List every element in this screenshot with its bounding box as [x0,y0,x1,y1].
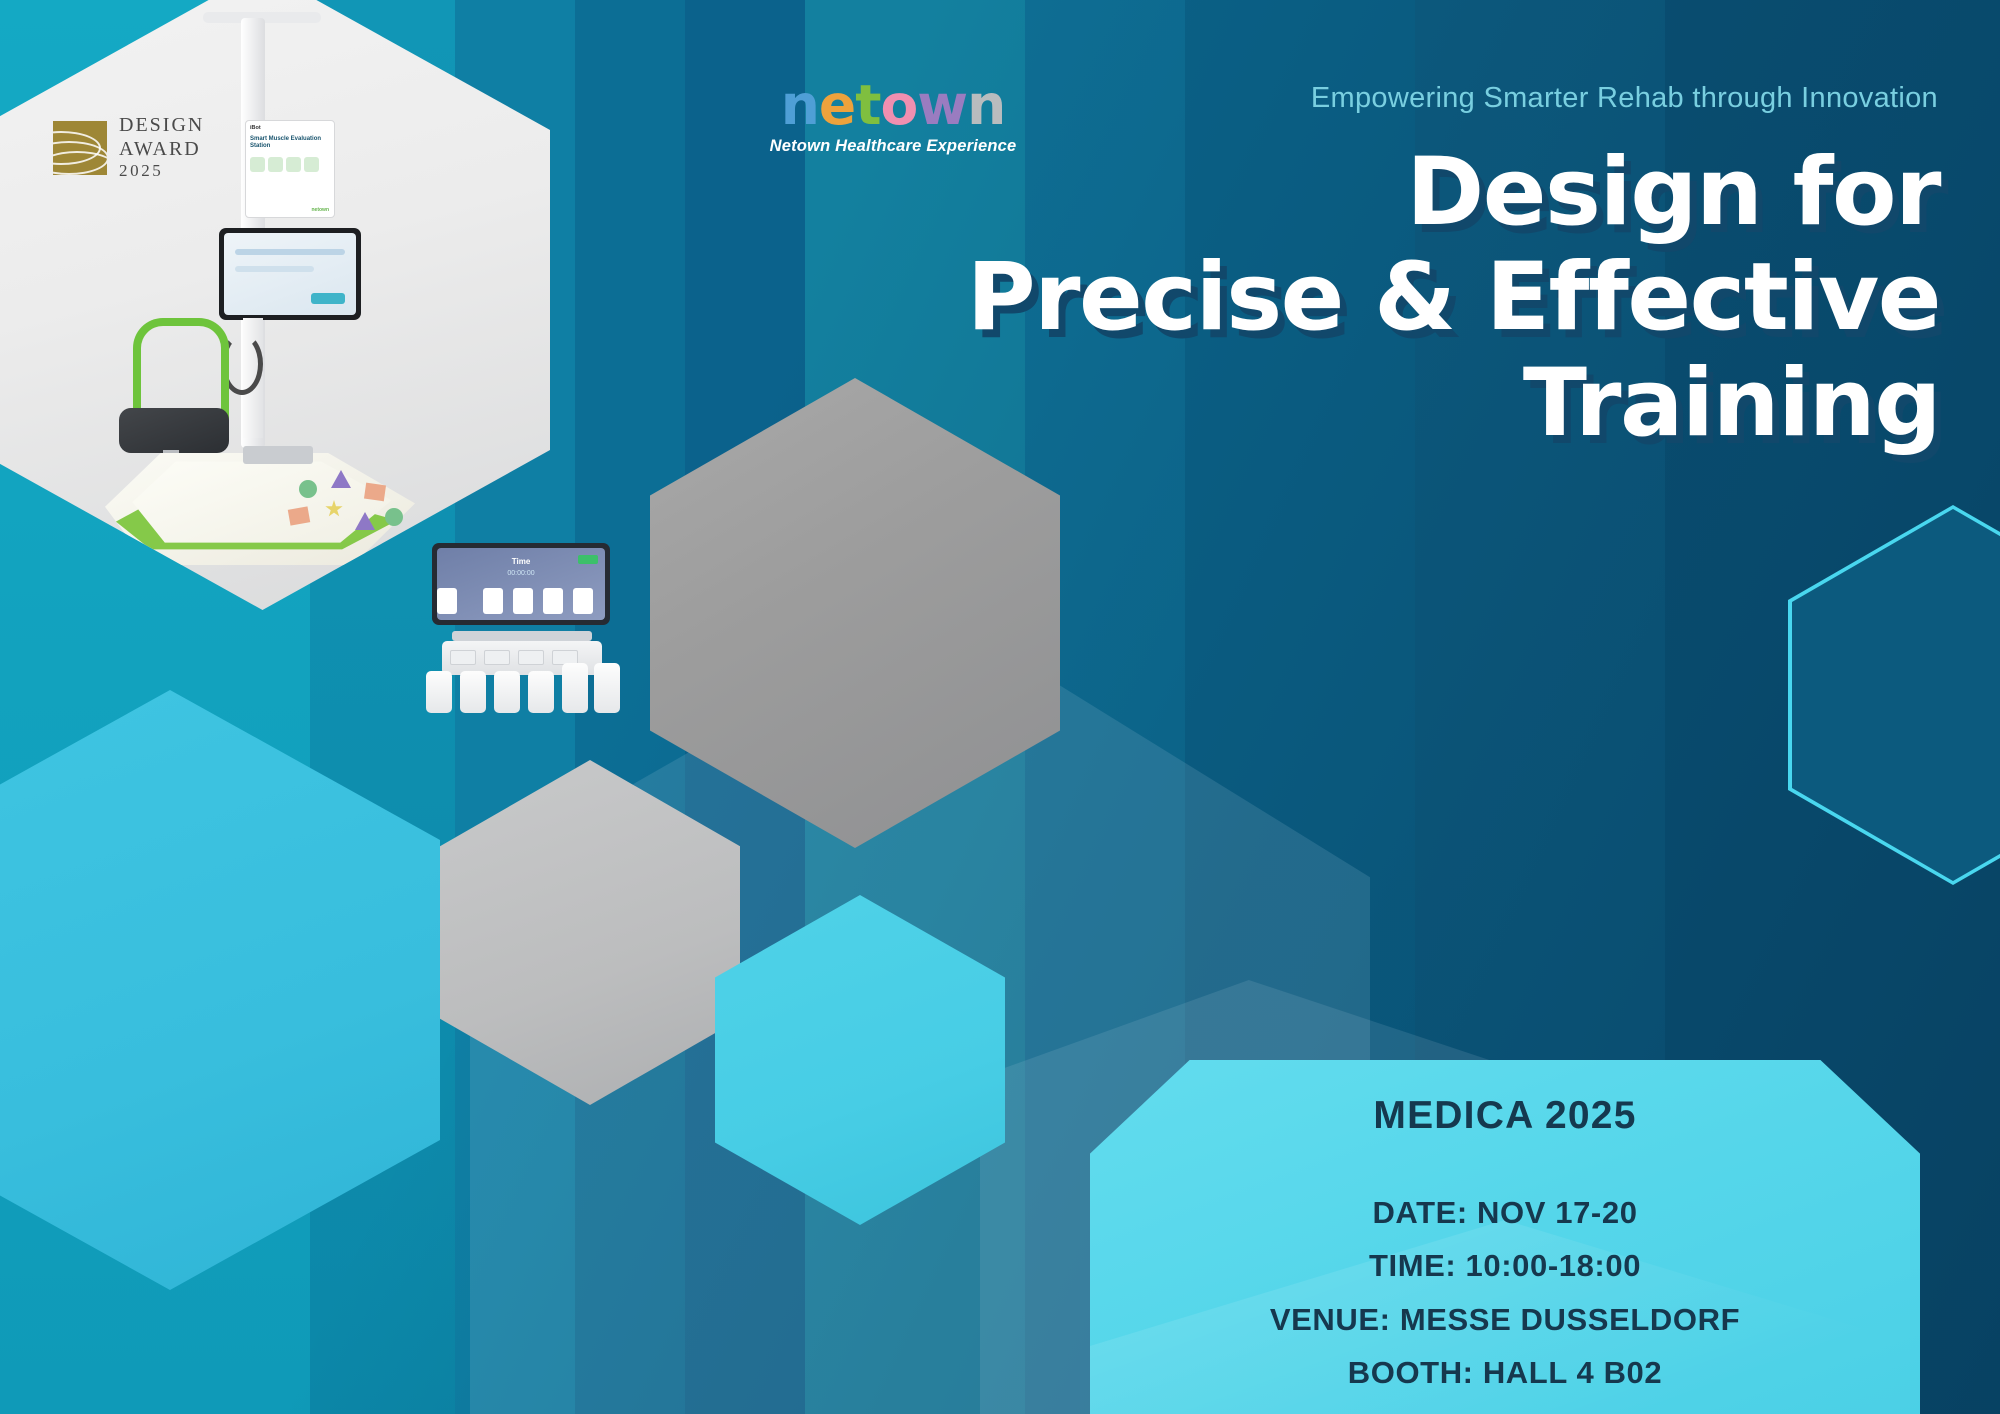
product-art-multi-station-trainer: Time 00:00:00 [418,543,624,713]
multistation-cuff [460,671,486,713]
headline-line-3: Training [967,351,1940,456]
station-seat [119,408,229,453]
multistation-time-label: Time [512,557,531,566]
logo-letter-n2: n [967,78,1005,133]
floor-shape-circle [385,508,403,526]
poster-headline: Design for Precise & Effective Training [967,140,1940,456]
poster-canvas: DESIGN AWARD 2025 iBot Smart Muscle Eval… [0,0,2000,1414]
event-title: MEDICA 2025 [1090,1094,1920,1138]
poster-tagline: Empowering Smarter Rehab through Innovat… [1311,82,1938,115]
multistation-start-chip [578,555,598,564]
floor-shape-circle [299,480,317,498]
floor-shape-triangle [331,470,351,488]
station-panel-title: iBot [250,125,330,131]
multistation-display: Time 00:00:00 [432,543,610,625]
event-detail-booth: BOOTH: HALL 4 B02 [1090,1346,1920,1399]
headline-line-2: Precise & Effective [967,245,1940,350]
multistation-neck [452,631,592,641]
station-panel-subtitle: Smart Muscle Evaluation Station [250,136,330,150]
event-details-list: DATE: NOV 17-20 TIME: 10:00-18:00 VENUE:… [1090,1186,1920,1399]
floor-shape-triangle [355,512,375,530]
logo-letter-e: e [819,78,855,133]
event-detail-venue: VENUE: MESSE DUSSELDORF [1090,1293,1920,1346]
logo-letter-t: t [855,78,880,133]
netown-logo-wordmark: netown [748,78,1038,133]
product-art-smart-muscle-station: iBot Smart Muscle Evaluation Station net… [93,0,433,568]
logo-letter-n1: n [781,78,819,133]
floor-shape-diamond [288,506,310,525]
logo-letter-w: w [917,78,967,133]
multistation-cuff [426,671,452,713]
station-touchscreen [219,228,361,320]
event-detail-time: TIME: 10:00-18:00 [1090,1239,1920,1292]
station-panel-brand: netown [312,207,330,213]
station-info-panel: iBot Smart Muscle Evaluation Station net… [245,120,335,218]
event-detail-date: DATE: NOV 17-20 [1090,1186,1920,1239]
headline-line-1: Design for [967,140,1940,245]
event-info-panel: MEDICA 2025 DATE: NOV 17-20 TIME: 10:00-… [1090,1060,1920,1414]
station-panel-icons [250,157,330,172]
multistation-cuff [594,663,620,713]
multistation-cuff [562,663,588,713]
multistation-cuff [494,671,520,713]
floor-shape-diamond [364,483,386,502]
logo-letter-o: o [881,78,918,133]
multistation-time-value: 00:00:00 [507,570,534,577]
multistation-cuff [528,671,554,713]
station-tray [243,446,313,464]
